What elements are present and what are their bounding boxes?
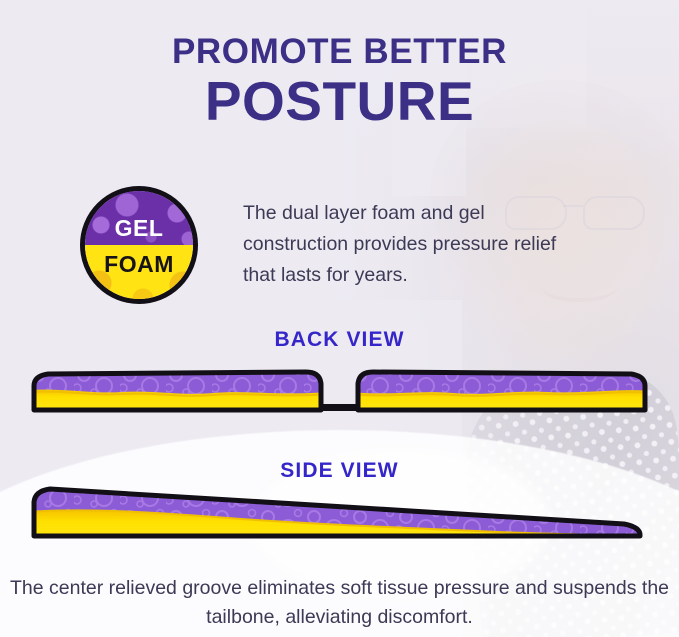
bottom-caption: The center relieved groove eliminates so… — [0, 574, 679, 632]
gel-foam-badge: GEL FOAM — [80, 186, 198, 304]
back-view-diagram — [28, 366, 651, 421]
back-view-label: BACK VIEW — [0, 328, 679, 352]
intro-paragraph: The dual layer foam and gel construction… — [243, 198, 573, 291]
headline-line-1: PROMOTE BETTER — [0, 34, 679, 69]
infographic-page: PROMOTE BETTER POSTURE GEL FOAM The dual… — [0, 0, 679, 637]
page-title: PROMOTE BETTER POSTURE — [0, 34, 679, 130]
side-view-diagram — [28, 478, 651, 553]
back-view-cross-section — [28, 366, 651, 416]
badge-gel-label: GEL — [85, 215, 193, 242]
badge-foam-label: FOAM — [85, 251, 193, 278]
headline-line-2: POSTURE — [0, 72, 679, 130]
side-view-cross-section — [28, 478, 651, 548]
